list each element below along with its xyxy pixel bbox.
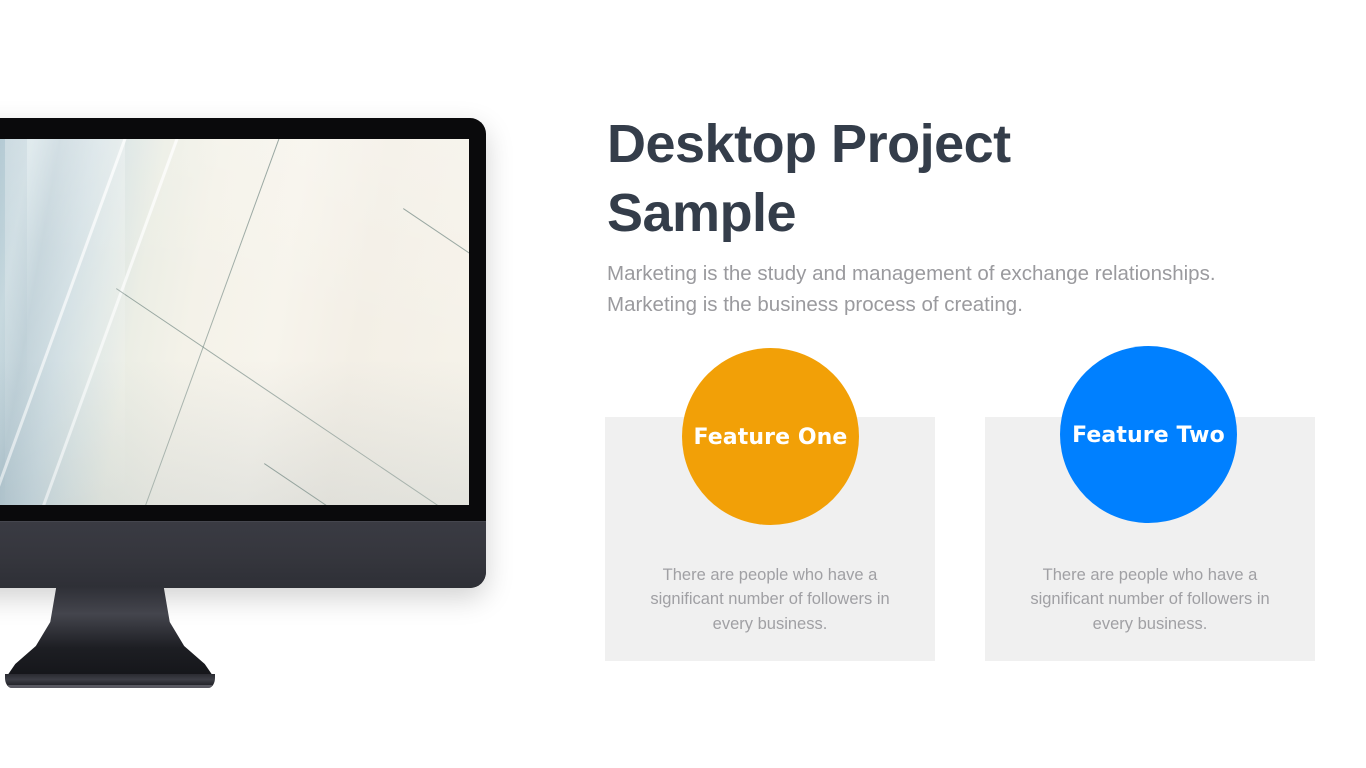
desktop-monitor-mockup: [0, 118, 486, 588]
feature-card-body: There are people who have a significant …: [1009, 563, 1291, 636]
monitor-chin-bezel: [0, 521, 486, 588]
screen-wallpaper-image: [0, 139, 469, 505]
monitor-screen: [0, 139, 469, 505]
slide-canvas: Desktop Project Sample Marketing is the …: [0, 0, 1366, 768]
feature-badge-two[interactable]: Feature Two: [1060, 346, 1237, 523]
content-column: Desktop Project Sample Marketing is the …: [605, 0, 1320, 768]
feature-badge-label: Feature Two: [1072, 423, 1225, 448]
feature-cards-group: There are people who have a significant …: [605, 417, 1320, 667]
feature-badge-label: Feature One: [694, 425, 848, 450]
page-title: Desktop Project Sample: [607, 110, 1127, 248]
page-subtitle: Marketing is the study and management of…: [607, 258, 1247, 320]
feature-badge-one[interactable]: Feature One: [682, 348, 859, 525]
monitor-bezel: [0, 118, 486, 588]
feature-card-body: There are people who have a significant …: [629, 563, 911, 636]
monitor-stand-foot: [5, 674, 215, 688]
monitor-stand-neck: [7, 586, 213, 686]
